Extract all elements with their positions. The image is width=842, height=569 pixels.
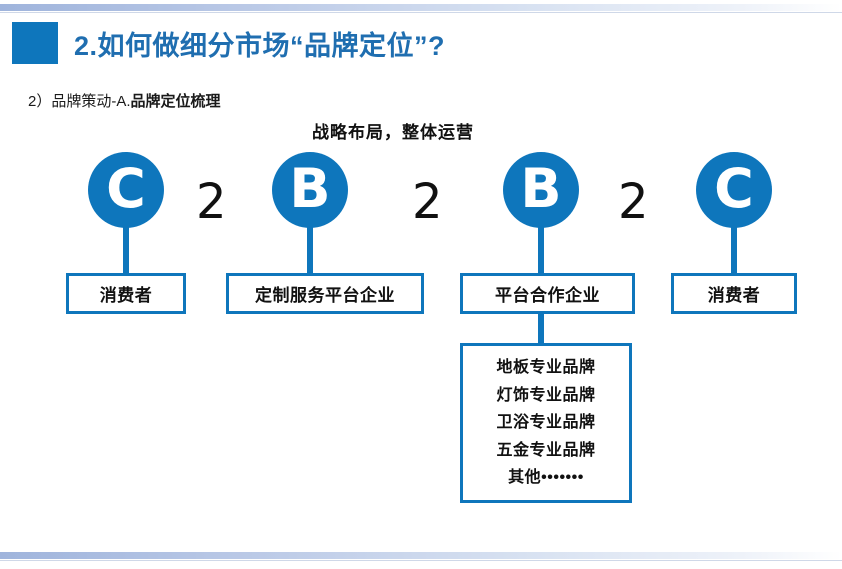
brand-list-item: 五金专业品牌 bbox=[496, 437, 595, 465]
chain-stem-2 bbox=[307, 222, 313, 276]
brand-list-item: 其他••••••• bbox=[508, 464, 584, 492]
chain-circle-2: B bbox=[272, 152, 348, 228]
brand-list-connector bbox=[538, 312, 544, 346]
chain-separator-3: 2 bbox=[618, 178, 649, 226]
chain-circle-3: B bbox=[503, 152, 579, 228]
chain-label-box-3: 平台合作企业 bbox=[460, 273, 635, 314]
bottom-decorative-rule bbox=[0, 552, 842, 559]
chain-separator-1: 2 bbox=[196, 178, 227, 226]
chain-label-box-4: 消费者 bbox=[671, 273, 797, 314]
chain-label-box-2: 定制服务平台企业 bbox=[226, 273, 424, 314]
chain-separator-2: 2 bbox=[412, 178, 443, 226]
chain-circle-1: C bbox=[88, 152, 164, 228]
chain-stem-4 bbox=[731, 222, 737, 276]
chain-label-box-1: 消费者 bbox=[66, 273, 186, 314]
slide-canvas: 2.如何做细分市场“品牌定位”? 2）品牌策动-A.品牌定位梳理 战略布局，整体… bbox=[0, 0, 842, 569]
brand-list-item: 灯饰专业品牌 bbox=[496, 382, 595, 410]
chain-circle-4: C bbox=[696, 152, 772, 228]
brand-list-item: 地板专业品牌 bbox=[496, 354, 595, 382]
chain-stem-3 bbox=[538, 222, 544, 276]
brand-list-item: 卫浴专业品牌 bbox=[496, 409, 595, 437]
brand-list-box: 地板专业品牌 灯饰专业品牌 卫浴专业品牌 五金专业品牌 其他••••••• bbox=[460, 343, 632, 503]
chain-stem-1 bbox=[123, 222, 129, 276]
bottom-hairline bbox=[0, 560, 842, 561]
value-chain-diagram: C 消费者 2 B 定制服务平台企业 2 B 平台合作企业 2 C 消费者 地 bbox=[0, 0, 842, 569]
